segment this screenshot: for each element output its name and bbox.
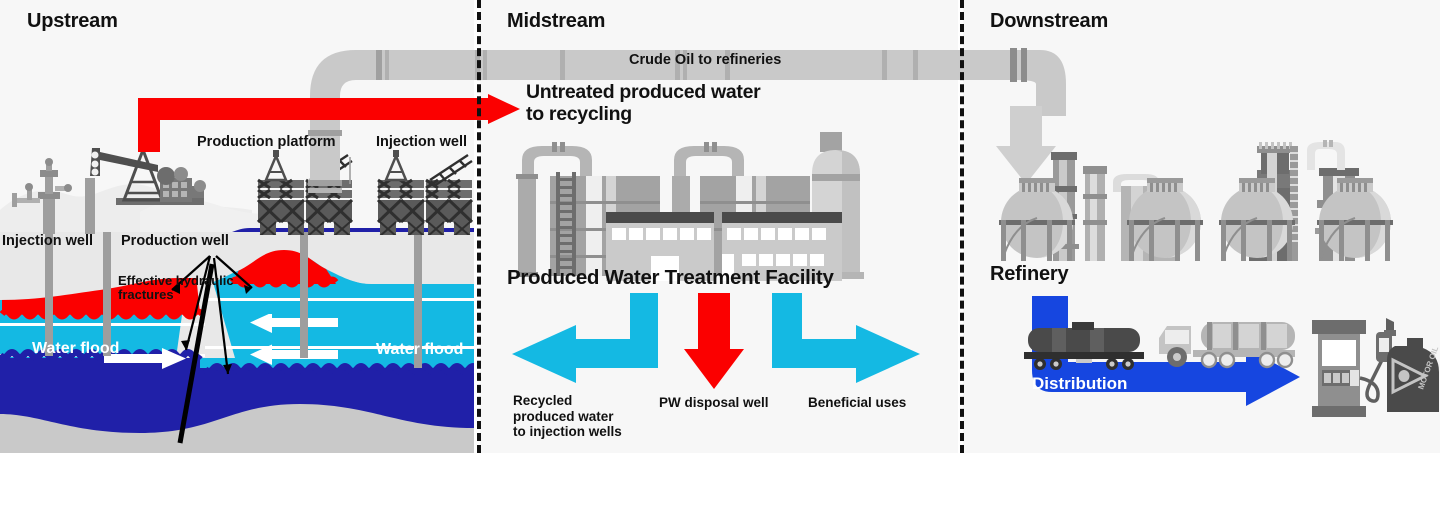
recycled-line-1: Recycled xyxy=(513,393,622,409)
well-casing-production-onshore xyxy=(103,228,111,356)
caption-recycled-produced-water: Recycled produced water to injection wel… xyxy=(513,393,622,440)
untreated-headline-line-1: Untreated produced water xyxy=(526,81,760,103)
infographic-canvas: Crude Oil to refineries xyxy=(0,0,1440,525)
label-water-flood-right: Water flood xyxy=(376,341,463,359)
section-title-downstream: Downstream xyxy=(990,10,1108,33)
label-distribution: Distribution xyxy=(1032,374,1127,394)
untreated-headline-line-2: to recycling xyxy=(526,103,760,125)
caption-beneficial-uses: Beneficial uses xyxy=(808,395,906,411)
recycled-line-3: to injection wells xyxy=(513,424,622,440)
tanker-truck-icon xyxy=(1157,312,1297,374)
divider-midstream-downstream xyxy=(960,0,964,453)
facility-title: Produced Water Treatment Facility xyxy=(507,266,834,290)
label-water-flood-left: Water flood xyxy=(32,340,119,358)
crude-oil-pipeline-label: Crude Oil to refineries xyxy=(629,52,781,68)
divider-upstream-midstream xyxy=(477,0,481,453)
water-flood-arrows-right xyxy=(250,314,380,372)
section-title-upstream: Upstream xyxy=(27,10,118,33)
label-injection-well-onshore: Injection well xyxy=(2,233,93,249)
fractures-label-line-1: Effective hydraulic xyxy=(118,274,234,288)
fractures-label-line-2: fractures xyxy=(118,288,234,302)
produced-water-treatment-facility-icon xyxy=(508,128,898,283)
untreated-produced-water-headline: Untreated produced water to recycling xyxy=(526,81,760,125)
refinery-icon xyxy=(985,140,1405,265)
label-injection-well-offshore: Injection well xyxy=(376,134,467,150)
section-title-midstream: Midstream xyxy=(507,10,605,33)
label-effective-hydraulic-fractures: Effective hydraulic fractures xyxy=(118,274,234,302)
caption-pw-disposal-well: PW disposal well xyxy=(659,395,769,411)
motor-oil-bottle-icon: MOTOR OIL xyxy=(1379,330,1440,422)
well-casing-platform xyxy=(300,228,308,358)
recycled-line-2: produced water xyxy=(513,409,622,425)
label-refinery: Refinery xyxy=(990,263,1068,286)
label-production-platform: Production platform xyxy=(197,134,336,150)
label-production-well-onshore: Production well xyxy=(121,233,229,249)
treatment-output-arrows xyxy=(506,293,936,398)
rail-tank-car-icon xyxy=(1022,314,1152,374)
